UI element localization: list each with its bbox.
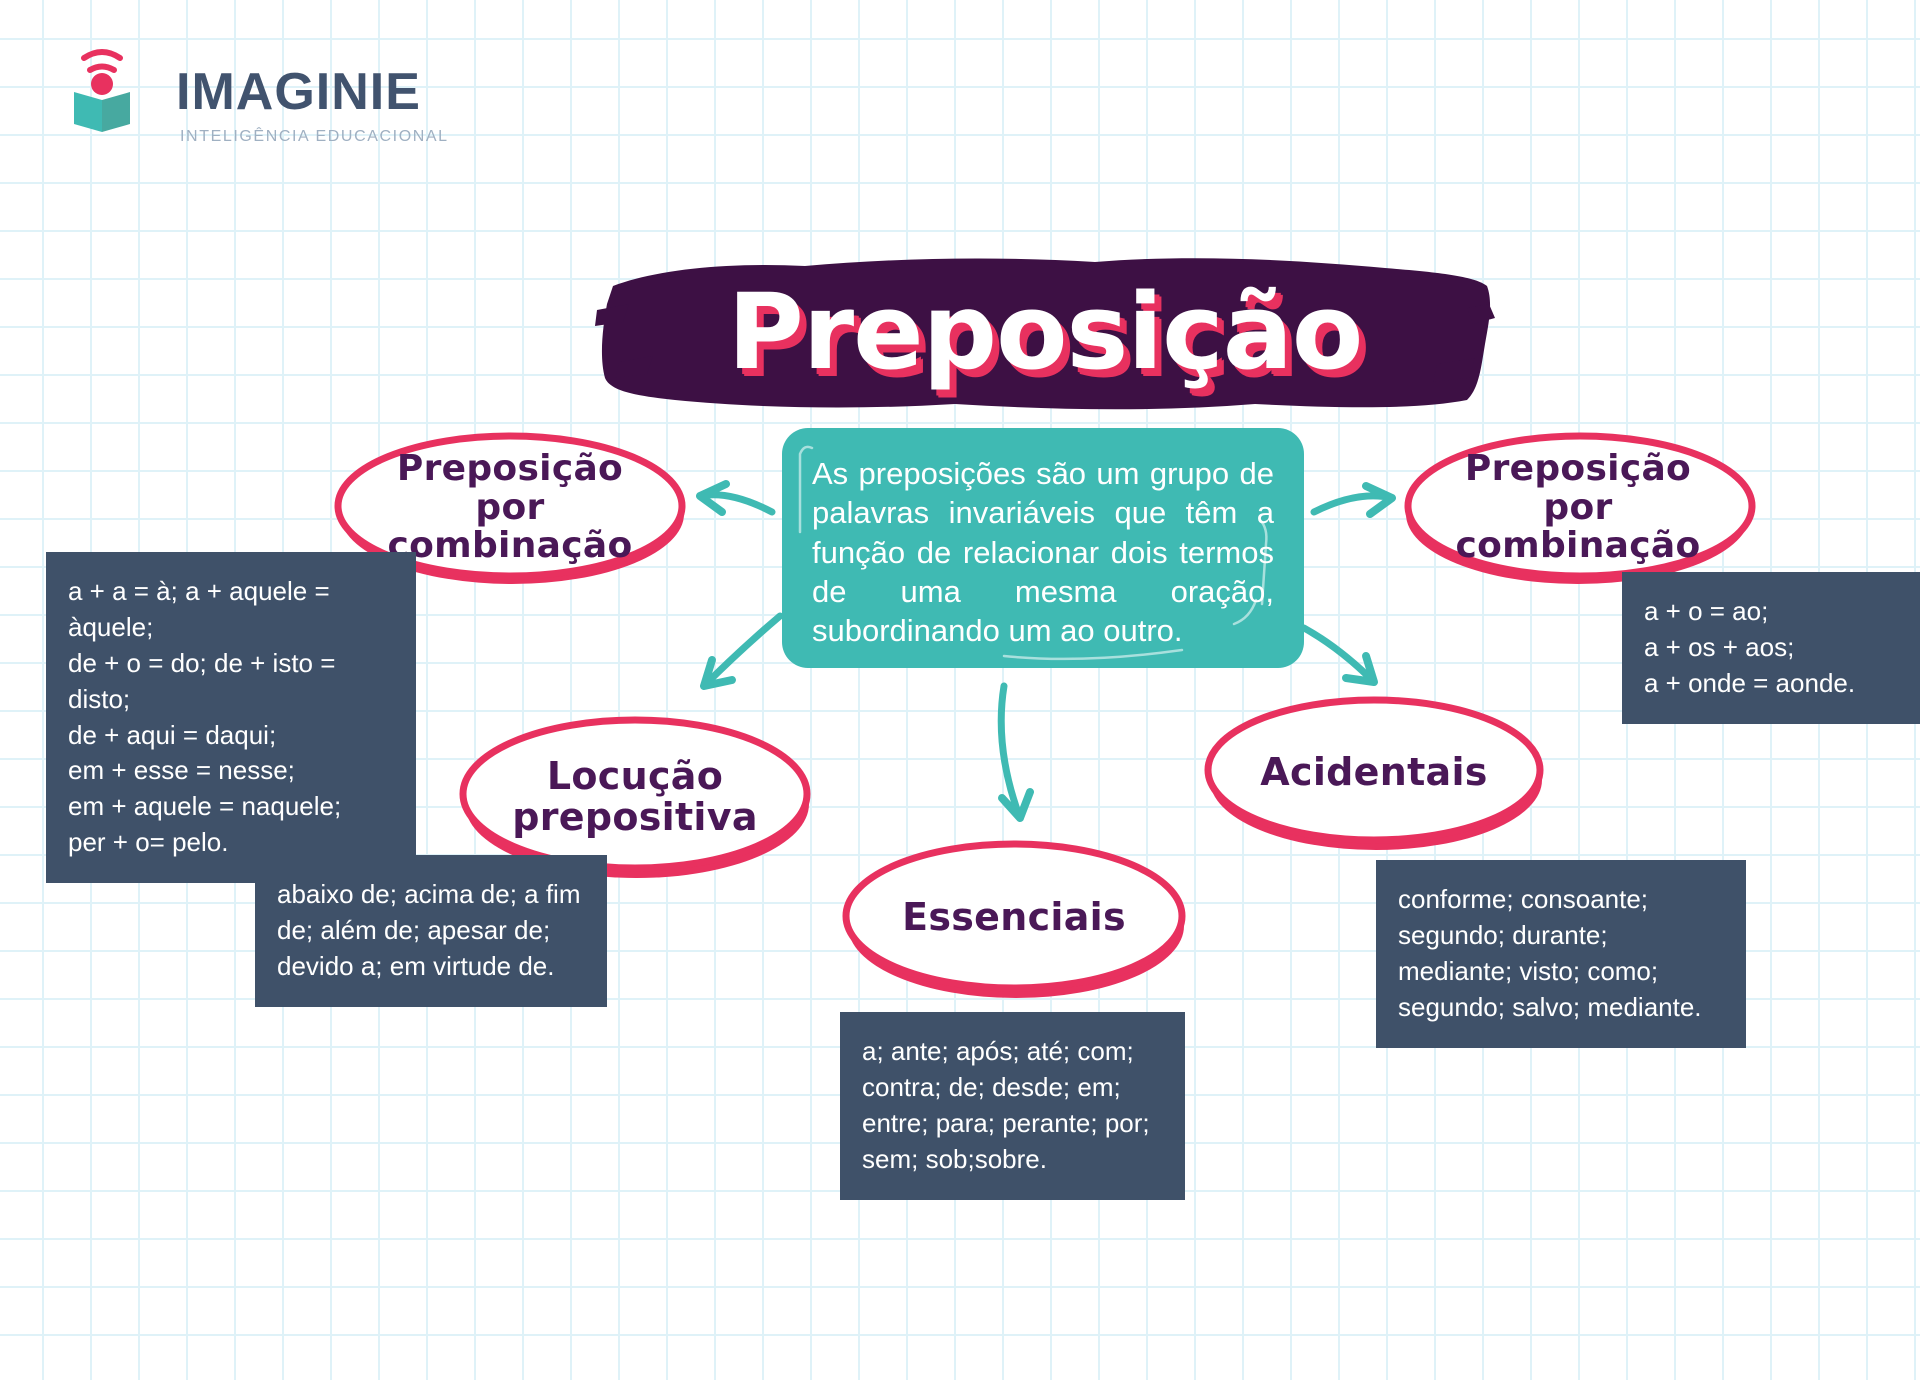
examples-box-acidentais: conforme; consoante; segundo; durante; m… — [1376, 860, 1746, 1048]
node-label-line2: prepositiva — [512, 797, 758, 838]
node-label-line1: Preposição por — [372, 450, 648, 528]
node-label-line2: combinação — [388, 527, 633, 566]
node-label-line1: Locução — [547, 756, 723, 797]
node-label-line1: Acidentais — [1260, 752, 1487, 793]
node-label-line1: Essenciais — [902, 897, 1126, 938]
page-title: Preposição — [595, 252, 1495, 417]
arrow-to-acidentais — [1304, 628, 1374, 682]
node-label: Essenciais — [838, 836, 1190, 1000]
node-label: Preposição por combinação — [1398, 428, 1758, 588]
node-label: Acidentais — [1200, 694, 1548, 852]
brand-tagline: INTELIGÊNCIA EDUCACIONAL — [180, 128, 449, 146]
node-essenciais[interactable]: Essenciais — [838, 836, 1190, 1000]
arrow-to-comb-left — [700, 495, 772, 512]
definition-text: As preposições são um grupo de palavras … — [812, 454, 1274, 651]
examples-box-essenciais: a; ante; após; até; com; contra; de; des… — [840, 1012, 1185, 1200]
examples-box-combinacao-left: a + a = à; a + aquele = àquele; de + o =… — [46, 552, 416, 883]
book-wifi-icon — [72, 48, 154, 134]
arrow-to-comb-right — [1314, 496, 1392, 512]
title-banner: Preposição — [595, 252, 1495, 417]
brand-wordmark: IMAGINIE — [176, 66, 421, 118]
definition-box: As preposições são um grupo de palavras … — [782, 428, 1304, 668]
node-acidentais[interactable]: Acidentais — [1200, 694, 1548, 852]
arrow-to-essenciais — [1001, 686, 1020, 818]
examples-box-locucao: abaixo de; acima de; a fim de; além de; … — [255, 855, 607, 1007]
brand-logo: IMAGINIE INTELIGÊNCIA EDUCACIONAL — [72, 44, 492, 154]
arrow-to-locucao — [704, 616, 780, 686]
examples-box-combinacao-right: a + o = ao; a + os + aos; a + onde = aon… — [1622, 572, 1920, 724]
node-preposicao-por-combinacao-right[interactable]: Preposição por combinação — [1398, 428, 1758, 588]
node-label-line1: Preposição por — [1440, 450, 1716, 528]
node-label-line2: combinação — [1456, 527, 1701, 566]
